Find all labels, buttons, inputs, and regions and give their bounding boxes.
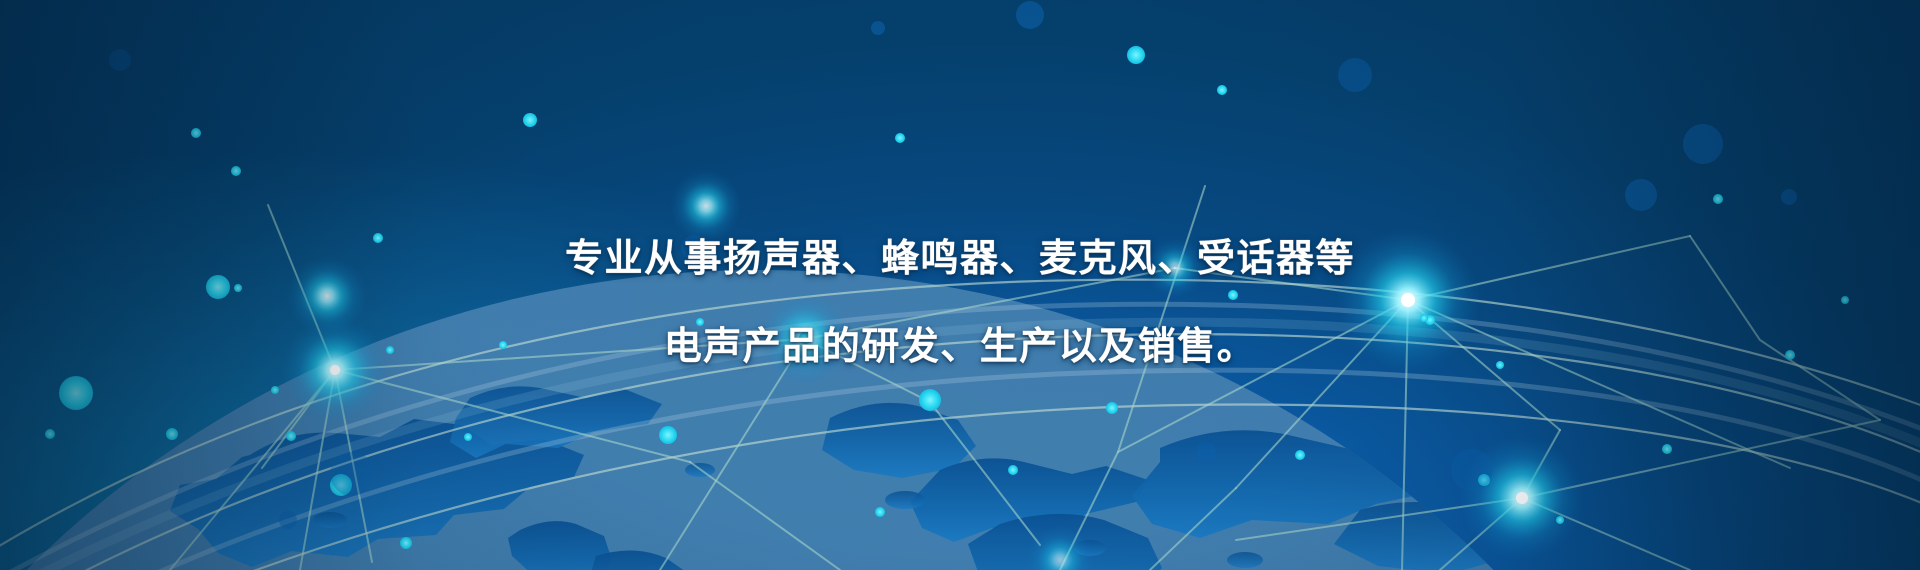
- headline-block: 专业从事扬声器、蜂鸣器、麦克风、受话器等 电声产品的研发、生产以及销售。: [0, 214, 1920, 390]
- headline-line-1: 专业从事扬声器、蜂鸣器、麦克风、受话器等: [0, 214, 1920, 302]
- hero-banner: 专业从事扬声器、蜂鸣器、麦克风、受话器等 电声产品的研发、生产以及销售。: [0, 0, 1920, 570]
- headline-line-2: 电声产品的研发、生产以及销售。: [0, 302, 1920, 390]
